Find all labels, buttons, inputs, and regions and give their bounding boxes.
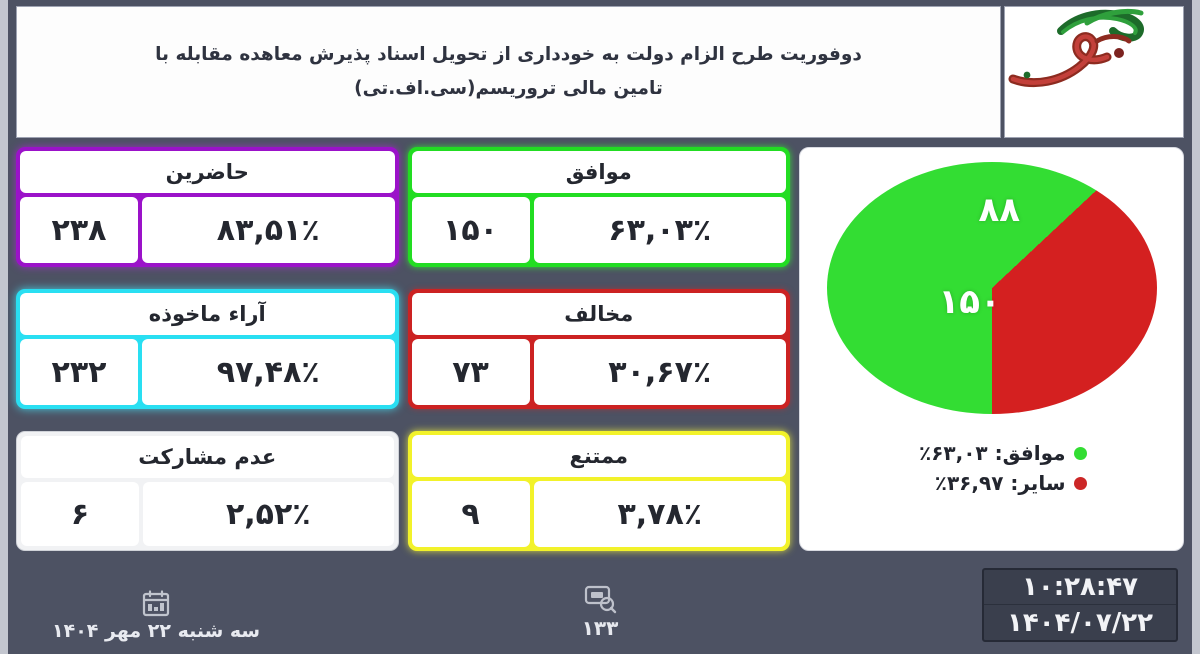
- stat-count-votes-cast: ۲۳۲: [20, 339, 138, 405]
- stat-percent-abstain: ۳,۷۸٪: [534, 481, 787, 547]
- pie-legend: موافق: ۶۳,۰۳٪ سایر: ۳۶,۹۷٪: [867, 438, 1117, 498]
- pie-chart: ۱۵۰ ۸۸: [827, 162, 1157, 414]
- stat-column-attendance: حاضرین ۸۳,۵۱٪ ۲۳۸ آراء ماخوذه ۹۷,۴۸٪ ۲۳۲…: [16, 147, 399, 551]
- legend-label-other: سایر: ۳۶,۹۷٪: [935, 468, 1066, 498]
- stat-label-non-participation: عدم مشارکت: [21, 436, 394, 478]
- pie-chart-panel: ۱۵۰ ۸۸ موافق: ۶۳,۰۳٪ سایر: ۳۶,۹۷٪: [799, 147, 1184, 551]
- legend-row-other: سایر: ۳۶,۹۷٪: [867, 468, 1117, 498]
- legend-label-agree: موافق: ۶۳,۰۳٪: [919, 438, 1066, 468]
- calendar-icon: [141, 590, 171, 618]
- stat-percent-present: ۸۳,۵۱٪: [142, 197, 395, 263]
- stat-label-oppose: مخالف: [412, 293, 787, 335]
- title-line-1: دوفوریت طرح الزام دولت به خودداری از تحو…: [155, 38, 862, 72]
- stat-count-oppose: ۷۳: [412, 339, 530, 405]
- stat-card-votes-cast[interactable]: آراء ماخوذه ۹۷,۴۸٪ ۲۳۲: [16, 289, 399, 409]
- stat-percent-non-participation: ۲,۵۲٪: [143, 482, 394, 546]
- stat-label-abstain: ممتنع: [412, 435, 787, 477]
- stat-card-abstain[interactable]: ممتنع ۳,۷۸٪ ۹: [408, 431, 791, 551]
- stat-percent-oppose: ۳۰,۶۷٪: [534, 339, 787, 405]
- header: دوفوریت طرح الزام دولت به خودداری از تحو…: [16, 6, 1184, 138]
- stat-values-votes-cast: ۹۷,۴۸٪ ۲۳۲: [20, 339, 395, 405]
- stat-label-agree: موافق: [412, 151, 787, 193]
- stat-label-votes-cast: آراء ماخوذه: [20, 293, 395, 335]
- stat-values-agree: ۶۳,۰۳٪ ۱۵۰: [412, 197, 787, 263]
- stat-values-oppose: ۳۰,۶۷٪ ۷۳: [412, 339, 787, 405]
- title-panel: دوفوریت طرح الزام دولت به خودداری از تحو…: [16, 6, 1001, 138]
- stat-percent-agree: ۶۳,۰۳٪: [534, 197, 787, 263]
- pie-label-majority: ۱۵۰: [939, 282, 1001, 322]
- stat-card-non-participation[interactable]: عدم مشارکت ۲,۵۲٪ ۶: [16, 431, 399, 551]
- vote-result-board: دوفوریت طرح الزام دولت به خودداری از تحو…: [0, 0, 1200, 654]
- page-title: دوفوریت طرح الزام دولت به خودداری از تحو…: [155, 38, 862, 106]
- date-block: سه شنبه ۲۲ مهر ۱۴۰۴: [52, 590, 260, 642]
- stat-count-present: ۲۳۸: [20, 197, 138, 263]
- majlis-calligraphy-logo-icon: [1004, 6, 1151, 97]
- stat-card-agree[interactable]: موافق ۶۳,۰۳٪ ۱۵۰: [408, 147, 791, 267]
- stat-percent-votes-cast: ۹۷,۴۸٪: [142, 339, 395, 405]
- logo-panel: [1004, 6, 1184, 138]
- stat-count-non-participation: ۶: [21, 482, 139, 546]
- stat-count-abstain: ۹: [412, 481, 530, 547]
- stat-values-abstain: ۳,۷۸٪ ۹: [412, 481, 787, 547]
- stat-card-present[interactable]: حاضرین ۸۳,۵۱٪ ۲۳۸: [16, 147, 399, 267]
- stat-column-votes: موافق ۶۳,۰۳٪ ۱۵۰ مخالف ۳۰,۶۷٪ ۷۳ ممتنع ۳…: [408, 147, 791, 551]
- stat-count-agree: ۱۵۰: [412, 197, 530, 263]
- screen-search-icon: [583, 584, 617, 614]
- date-long: سه شنبه ۲۲ مهر ۱۴۰۴: [52, 620, 260, 642]
- legend-dot-other: [1074, 477, 1087, 490]
- title-line-2: تامین مالی تروریسم(سی.اف.تی): [155, 72, 862, 106]
- stat-values-non-participation: ۲,۵۲٪ ۶: [21, 482, 394, 546]
- agenda-number: ۱۳۳: [582, 616, 619, 640]
- results-board: ۱۵۰ ۸۸ موافق: ۶۳,۰۳٪ سایر: ۳۶,۹۷٪ موافق …: [16, 147, 1184, 551]
- stat-label-present: حاضرین: [20, 151, 395, 193]
- pie-label-minority: ۸۸: [979, 190, 1021, 230]
- footer: ۱۰:۲۸:۴۷ ۱۴۰۴/۰۷/۲۲ ۱۳۳ سه شنبه ۲: [16, 554, 1184, 654]
- stat-card-oppose[interactable]: مخالف ۳۰,۶۷٪ ۷۳: [408, 289, 791, 409]
- legend-dot-agree: [1074, 447, 1087, 460]
- legend-row-agree: موافق: ۶۳,۰۳٪: [867, 438, 1117, 468]
- stat-values-present: ۸۳,۵۱٪ ۲۳۸: [20, 197, 395, 263]
